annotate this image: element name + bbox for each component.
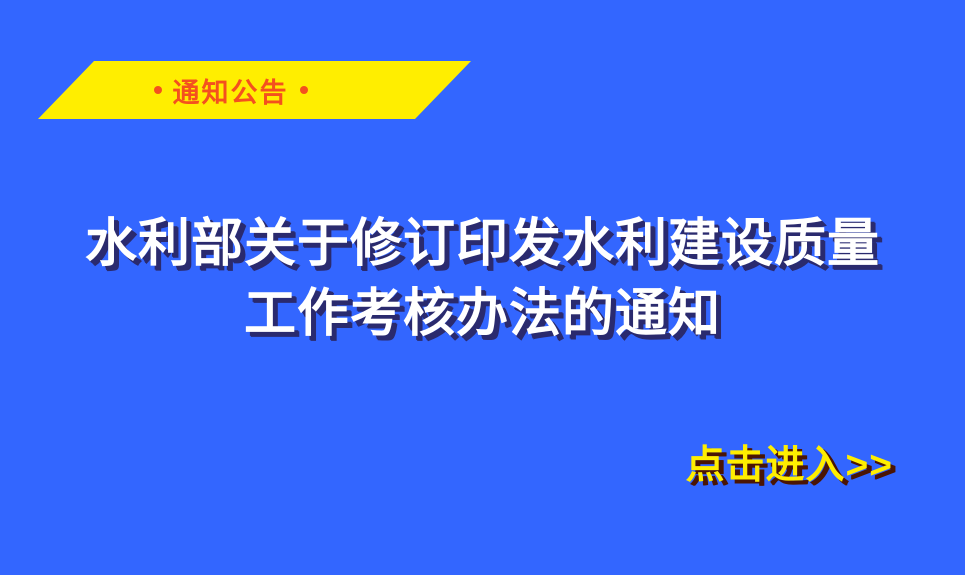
category-tag-label: 通知公告: [173, 71, 289, 110]
page-title-line-1: 水利部关于修订印发水利建设质量: [0, 209, 965, 279]
category-tag[interactable]: 通知公告: [38, 61, 415, 119]
page-title-line-2: 工作考核办法的通知: [0, 279, 965, 349]
announcement-banner: 通知公告 水利部关于修订印发水利建设质量 工作考核办法的通知 点击进入>>: [0, 0, 965, 575]
enter-link[interactable]: 点击进入>>: [685, 434, 893, 490]
category-tag-label-group: 通知公告: [38, 61, 415, 119]
bullet-dot-left-icon: [154, 86, 162, 94]
page-title: 水利部关于修订印发水利建设质量 工作考核办法的通知: [0, 209, 965, 349]
bullet-dot-right-icon: [300, 86, 308, 94]
